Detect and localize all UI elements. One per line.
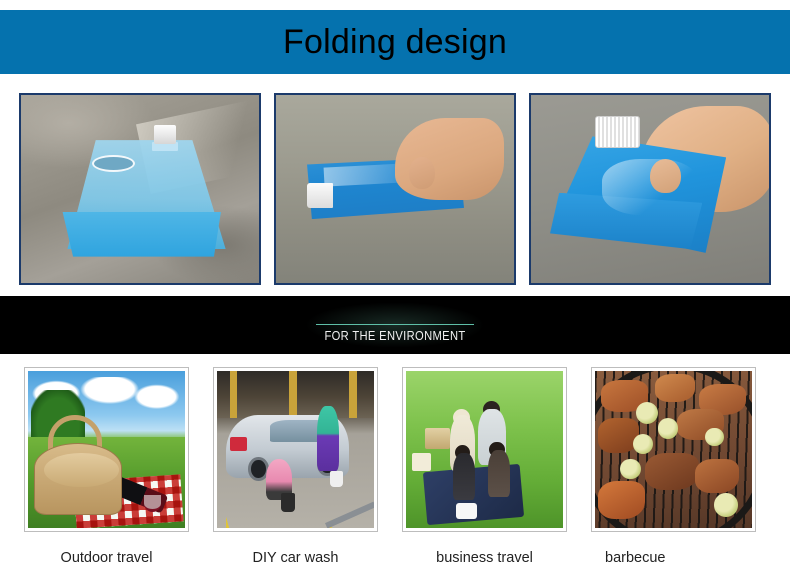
- top-gallery: [19, 93, 771, 285]
- gallery-photo-hand-holding-folded-bag-flat: [274, 93, 516, 285]
- product-detail-page: Folding design: [0, 0, 790, 588]
- use-case-photo-barbecue-grill-photo: [591, 367, 756, 532]
- photo-content: [21, 95, 259, 283]
- photo-content: [28, 371, 185, 528]
- girl-body: [453, 453, 475, 500]
- white-bag: [456, 503, 476, 519]
- grilled-zucchini: [636, 402, 658, 424]
- environment-band: FOR THE ENVIRONMENT: [0, 296, 790, 354]
- thumb: [650, 159, 681, 193]
- use-case-caption-barbecue: barbecue: [591, 544, 756, 572]
- gallery-photo-hand-holding-folded-bag-with-cap: [529, 93, 771, 285]
- band-divider-rule: [316, 324, 474, 325]
- use-case-caption-business-travel: business travel: [402, 544, 567, 572]
- hand: [395, 118, 504, 201]
- use-case-caption-diy-car-wash: DIY car wash: [213, 544, 378, 572]
- cooler-box: [412, 453, 431, 472]
- photo-content: [276, 95, 514, 283]
- use-case-photo-car-wash-photo: [213, 367, 378, 532]
- grilled-zucchini: [620, 459, 640, 479]
- grilled-zucchini: [714, 493, 738, 517]
- use-case-caption-outdoor-travel: Outdoor travel: [24, 544, 189, 572]
- parking-lines: [217, 471, 374, 528]
- bottle-cap: [154, 125, 175, 144]
- photo-content: [406, 371, 563, 528]
- shop-pillar: [289, 371, 297, 418]
- boy-body: [488, 450, 510, 497]
- bottle-cap: [595, 116, 640, 148]
- grilled-meat: [655, 374, 696, 402]
- grilled-zucchini: [705, 428, 724, 447]
- photo-content: [595, 371, 752, 528]
- person-washing-standing: [317, 406, 339, 472]
- use-case-photo-picnic-basket-photo: [24, 367, 189, 532]
- branch-silhouette: [290, 95, 361, 148]
- bag-highlight: [602, 159, 697, 215]
- tail-light: [230, 437, 247, 451]
- water-bag-base: [52, 212, 228, 257]
- grilled-zucchini: [658, 418, 678, 438]
- grilled-meat: [598, 481, 645, 519]
- use-case-photo-family-picnic-photo: [402, 367, 567, 532]
- bottle-cap: [307, 183, 333, 207]
- use-case-gallery: [24, 367, 756, 532]
- basket-lid: [44, 453, 119, 488]
- photo-content: [217, 371, 374, 528]
- gallery-photo-collapsible-water-container-on-ground: [19, 93, 261, 285]
- photo-content: [531, 95, 769, 283]
- grilled-meat: [695, 459, 739, 494]
- page-title: Folding design: [283, 25, 507, 59]
- shop-pillar: [230, 371, 238, 418]
- black-bucket: [281, 493, 295, 512]
- picnic-basket: [425, 428, 450, 450]
- shop-pillar: [349, 371, 357, 418]
- grilled-meat: [645, 453, 698, 491]
- environment-tagline: FOR THE ENVIRONMENT: [55, 328, 734, 343]
- header-banner: Folding design: [0, 10, 790, 74]
- white-bucket: [330, 471, 343, 487]
- use-case-captions: Outdoor travel DIY car wash business tra…: [24, 544, 756, 572]
- thumb: [409, 157, 435, 189]
